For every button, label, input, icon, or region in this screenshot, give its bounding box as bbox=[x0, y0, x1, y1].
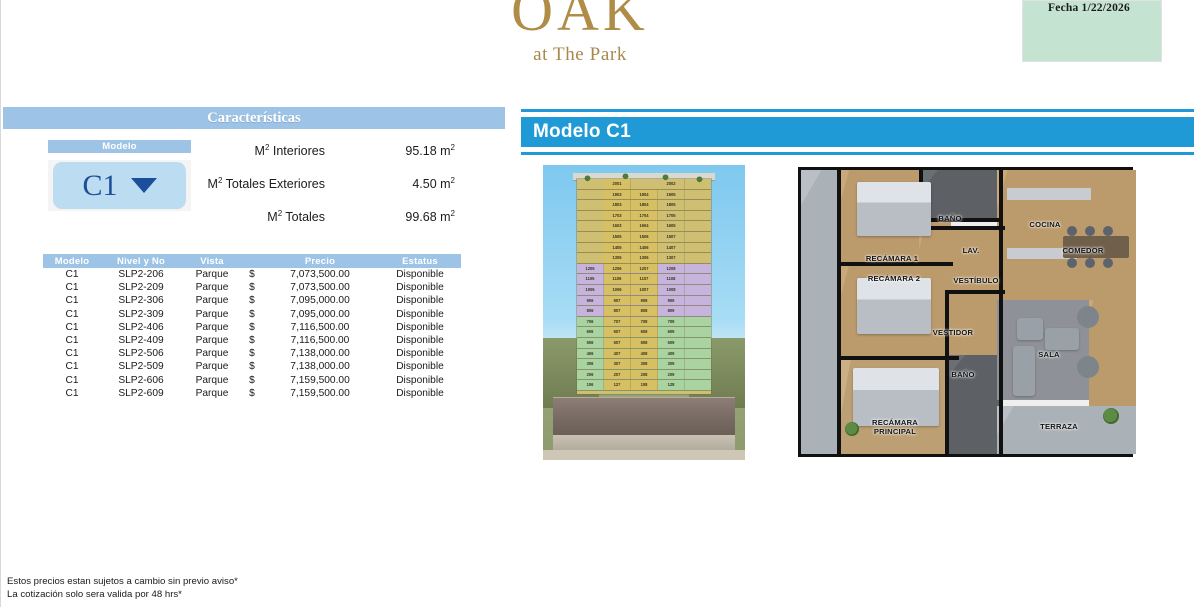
building-unit-cell: 509 bbox=[658, 338, 685, 348]
measure-row: M2 Interiores 95.18 m2 bbox=[205, 143, 455, 176]
building-unit-cell: 209 bbox=[658, 370, 685, 380]
fp-label-recamara-1: RECÁMARA 1 bbox=[837, 254, 947, 263]
building-unit-cell: 1306 bbox=[631, 253, 658, 263]
wall bbox=[837, 170, 841, 454]
unit-vista: Parque bbox=[181, 321, 243, 334]
fp-label-bano-1: BAÑO bbox=[927, 214, 973, 223]
building-unit-cell: 1107 bbox=[631, 274, 658, 284]
building-unit-cell: 1007 bbox=[631, 285, 658, 295]
units-table-body: C1SLP2-206Parque$7,073,500.00DisponibleC… bbox=[43, 268, 461, 400]
building-unit-cell: 1405 bbox=[604, 243, 631, 253]
table-row[interactable]: C1SLP2-409Parque$7,116,500.00Disponible bbox=[43, 334, 461, 347]
fp-label-terraza: TERRAZA bbox=[1029, 422, 1089, 431]
footer-line-1: Estos precios estan sujetos a cambio sin… bbox=[7, 575, 238, 588]
table-row[interactable]: C1SLP2-206Parque$7,073,500.00Disponible bbox=[43, 268, 461, 281]
caracteristicas-title: Características bbox=[3, 107, 505, 129]
unit-modelo: C1 bbox=[43, 374, 101, 387]
table-row[interactable]: C1SLP2-306Parque$7,095,000.00Disponible bbox=[43, 294, 461, 307]
building-unit-cell: 908 bbox=[631, 296, 658, 306]
unit-vista: Parque bbox=[181, 294, 243, 307]
unit-vista: Parque bbox=[181, 334, 243, 347]
building-unit-cell: 1805 bbox=[658, 200, 685, 210]
unit-precio: 7,138,000.00 bbox=[261, 360, 379, 373]
unit-modelo: C1 bbox=[43, 321, 101, 334]
unit-precio: 7,159,500.00 bbox=[261, 387, 379, 400]
unit-currency: $ bbox=[243, 334, 261, 347]
fp-label-sala: SALA bbox=[1027, 350, 1071, 359]
building-floor-row: 1205120612071208 bbox=[577, 264, 711, 275]
unit-precio: 7,116,500.00 bbox=[261, 321, 379, 334]
fp-floor-vestidor bbox=[919, 290, 1005, 360]
measure-name: M2 Totales bbox=[205, 209, 355, 224]
building-unit-cell: 1206 bbox=[604, 264, 631, 274]
unit-vista: Parque bbox=[181, 374, 243, 387]
armchair-icon bbox=[1017, 318, 1043, 340]
unit-nivel: SLP2-606 bbox=[101, 374, 181, 387]
building-unit-cell: 1205 bbox=[577, 264, 604, 274]
chair-icon bbox=[1067, 258, 1077, 268]
measure-row: M2 Totales 99.68 m2 bbox=[205, 209, 455, 242]
measure-row: M2 Totales Exteriores 4.50 m2 bbox=[205, 176, 455, 209]
model-header-bar: Modelo C1 bbox=[521, 117, 1194, 147]
unit-modelo: C1 bbox=[43, 308, 101, 321]
building-unit-cell: 806 bbox=[577, 306, 604, 316]
fp-label-cocina: COCINA bbox=[1019, 220, 1071, 229]
building-unit-cell: 106 bbox=[577, 380, 604, 390]
building-unit-cell: 1507 bbox=[658, 232, 685, 242]
plant-icon bbox=[1103, 408, 1119, 424]
building-unit-cell: 1406 bbox=[631, 243, 658, 253]
building-unit-cell: 2001 bbox=[604, 179, 631, 189]
palm-icon bbox=[621, 171, 630, 180]
building-unit-cell: 108 bbox=[631, 380, 658, 390]
building-unit-cell: 606 bbox=[577, 327, 604, 337]
palm-icon bbox=[695, 174, 704, 183]
building-unit-cell: 1106 bbox=[604, 274, 631, 284]
unit-currency: $ bbox=[243, 374, 261, 387]
unit-estatus: Disponible bbox=[379, 347, 461, 360]
building-unit-cell: 1905 bbox=[658, 190, 685, 200]
building-floor-row: 160316041605 bbox=[577, 221, 711, 232]
measure-value: 99.68 m2 bbox=[355, 209, 455, 224]
footer-line-2: La cotización solo sera valida por 48 hr… bbox=[7, 588, 238, 601]
palm-icon bbox=[583, 173, 592, 182]
brand-name: OAK bbox=[440, 0, 720, 40]
building-floor-row: 170317041705 bbox=[577, 211, 711, 222]
unit-nivel: SLP2-206 bbox=[101, 268, 181, 281]
building-unit-cell: 1506 bbox=[631, 232, 658, 242]
fp-label-comedor: COMEDOR bbox=[1053, 246, 1113, 255]
unit-precio: 7,073,500.00 bbox=[261, 281, 379, 294]
building-podium bbox=[553, 397, 735, 436]
unit-estatus: Disponible bbox=[379, 294, 461, 307]
unit-vista: Parque bbox=[181, 387, 243, 400]
building-unit-cell: 1705 bbox=[658, 211, 685, 221]
building-unit-cell: 608 bbox=[631, 327, 658, 337]
model-picker-label: Modelo bbox=[48, 140, 191, 153]
measure-name: M2 Interiores bbox=[205, 143, 355, 158]
model-select-wrapper: C1 bbox=[48, 160, 191, 211]
unit-vista: Parque bbox=[181, 347, 243, 360]
table-row[interactable]: C1SLP2-406Parque$7,116,500.00Disponible bbox=[43, 321, 461, 334]
building-unit-cell: 1505 bbox=[604, 232, 631, 242]
building-unit-cell: 1605 bbox=[658, 221, 685, 231]
building-unit-cell: 1105 bbox=[577, 274, 604, 284]
table-row[interactable]: C1SLP2-209Parque$7,073,500.00Disponible bbox=[43, 281, 461, 294]
wall bbox=[841, 356, 959, 360]
building-unit-cell: 709 bbox=[658, 317, 685, 327]
wall bbox=[919, 226, 1005, 230]
building-floor-row: 1005100610071008 bbox=[577, 285, 711, 296]
building-unit-cell: 409 bbox=[658, 349, 685, 359]
building-unit-cell: 308 bbox=[631, 359, 658, 369]
fp-label-recamara-principal: RECÁMARA PRINCIPAL bbox=[847, 418, 943, 436]
unit-currency: $ bbox=[243, 387, 261, 400]
building-floor-row: 150515061507 bbox=[577, 232, 711, 243]
unit-modelo: C1 bbox=[43, 334, 101, 347]
building-unit-cell: 206 bbox=[577, 370, 604, 380]
measures-list: M2 Interiores 95.18 m2 M2 Totales Exteri… bbox=[205, 143, 455, 242]
building-unit-cell: 1208 bbox=[658, 264, 685, 274]
building-unit-cell: 1006 bbox=[604, 285, 631, 295]
building-ground bbox=[543, 450, 745, 460]
chair-icon bbox=[1085, 258, 1095, 268]
page-left-border bbox=[0, 0, 1, 607]
unit-currency: $ bbox=[243, 360, 261, 373]
building-unit-cell: 707 bbox=[604, 317, 631, 327]
unit-precio: 7,095,000.00 bbox=[261, 294, 379, 307]
unit-modelo: C1 bbox=[43, 281, 101, 294]
building-unit-cell: 1903 bbox=[604, 190, 631, 200]
building-floor-row: 106127108128 bbox=[577, 380, 711, 391]
unit-nivel: SLP2-306 bbox=[101, 294, 181, 307]
table-row[interactable]: C1SLP2-506Parque$7,138,000.00Disponible bbox=[43, 347, 461, 360]
fp-label-lav: LAV. bbox=[955, 246, 987, 255]
building-unit-cell: 507 bbox=[604, 338, 631, 348]
building-unit-cell: 607 bbox=[604, 327, 631, 337]
bed-icon bbox=[857, 182, 931, 236]
unit-precio: 7,159,500.00 bbox=[261, 374, 379, 387]
building-unit-cell: 1005 bbox=[577, 285, 604, 295]
building-unit-cell: 309 bbox=[658, 359, 685, 369]
footer-disclaimer: Estos precios estan sujetos a cambio sin… bbox=[7, 575, 238, 601]
building-unit-cell: 506 bbox=[577, 338, 604, 348]
fp-label-vestibulo: VESTÍBULO bbox=[941, 276, 1011, 285]
building-unit-cell: 906 bbox=[577, 296, 604, 306]
building-unit-cell: 406 bbox=[577, 349, 604, 359]
col-header-modelo[interactable]: Modelo bbox=[43, 254, 101, 268]
building-unit-cell: 508 bbox=[631, 338, 658, 348]
building-unit-cell: 306 bbox=[577, 359, 604, 369]
table-row[interactable]: C1SLP2-606Parque$7,159,500.00Disponible bbox=[43, 374, 461, 387]
building-unit-cell: 1305 bbox=[604, 253, 631, 263]
chair-icon bbox=[1103, 226, 1113, 236]
chevron-down-icon[interactable] bbox=[131, 178, 157, 193]
building-unit-cell: 808 bbox=[631, 306, 658, 316]
building-floor-row: 406407408409 bbox=[577, 349, 711, 360]
units-table: Modelo Nivel y No Vista Precio Estatus C… bbox=[43, 254, 461, 400]
unit-estatus: Disponible bbox=[379, 360, 461, 373]
tower-floors: 2001200219031904190518031804180517031704… bbox=[577, 179, 711, 394]
unit-modelo: C1 bbox=[43, 360, 101, 373]
building-unit-cell: 1008 bbox=[658, 285, 685, 295]
model-select[interactable]: C1 bbox=[53, 162, 186, 209]
unit-estatus: Disponible bbox=[379, 321, 461, 334]
round-rug bbox=[1077, 306, 1099, 328]
date-label: Fecha 1/22/2026 bbox=[1024, 2, 1154, 14]
building-unit-cell: 307 bbox=[604, 359, 631, 369]
col-header-currency bbox=[243, 254, 261, 268]
building-unit-cell: 127 bbox=[604, 380, 631, 390]
unit-nivel: SLP2-406 bbox=[101, 321, 181, 334]
building-unit-cell: 128 bbox=[658, 380, 685, 390]
unit-currency: $ bbox=[243, 347, 261, 360]
building-floor-row: 606607608609 bbox=[577, 327, 711, 338]
unit-modelo: C1 bbox=[43, 294, 101, 307]
unit-vista: Parque bbox=[181, 360, 243, 373]
unit-modelo: C1 bbox=[43, 268, 101, 281]
building-unit-cell: 408 bbox=[631, 349, 658, 359]
unit-estatus: Disponible bbox=[379, 308, 461, 321]
unit-precio: 7,095,000.00 bbox=[261, 308, 379, 321]
unit-currency: $ bbox=[243, 268, 261, 281]
model-select-value: C1 bbox=[82, 171, 117, 201]
unit-estatus: Disponible bbox=[379, 387, 461, 400]
brand-logo: OAK at The Park bbox=[440, 0, 720, 66]
unit-nivel: SLP2-309 bbox=[101, 308, 181, 321]
table-row[interactable]: C1SLP2-609Parque$7,159,500.00Disponible bbox=[43, 387, 461, 400]
fp-balcony-left bbox=[801, 170, 841, 454]
building-unit-cell: 1803 bbox=[604, 200, 631, 210]
unit-nivel: SLP2-609 bbox=[101, 387, 181, 400]
caracteristicas-header: Características bbox=[3, 107, 505, 129]
fp-label-recamara-2: RECÁMARA 2 bbox=[839, 274, 949, 283]
unit-nivel: SLP2-506 bbox=[101, 347, 181, 360]
unit-currency: $ bbox=[243, 294, 261, 307]
unit-nivel: SLP2-409 bbox=[101, 334, 181, 347]
unit-estatus: Disponible bbox=[379, 374, 461, 387]
building-floor-row: 180318041805 bbox=[577, 200, 711, 211]
building-floor-row: 20012002 bbox=[577, 179, 711, 190]
building-floor-row: 140514061407 bbox=[577, 243, 711, 254]
building-floor-row: 306307308309 bbox=[577, 359, 711, 370]
wall bbox=[999, 294, 1003, 454]
bed-icon bbox=[857, 278, 931, 334]
model-picker: Modelo C1 bbox=[48, 140, 191, 211]
chair-icon bbox=[1085, 226, 1095, 236]
unit-vista: Parque bbox=[181, 281, 243, 294]
brand-tagline: at The Park bbox=[440, 44, 720, 66]
building-unit-cell: 1108 bbox=[658, 274, 685, 284]
table-row[interactable]: C1SLP2-309Parque$7,095,000.00Disponible bbox=[43, 308, 461, 321]
model-header-rule-bottom bbox=[521, 152, 1194, 155]
unit-currency: $ bbox=[243, 281, 261, 294]
building-floor-row: 1105110611071108 bbox=[577, 274, 711, 285]
building-unit-cell: 207 bbox=[604, 370, 631, 380]
building-unit-cell: 1307 bbox=[658, 253, 685, 263]
wall bbox=[945, 290, 1005, 294]
building-unit-cell: 1407 bbox=[658, 243, 685, 253]
unit-nivel: SLP2-209 bbox=[101, 281, 181, 294]
building-unit-cell: 1604 bbox=[631, 221, 658, 231]
building-unit-cell: 907 bbox=[604, 296, 631, 306]
building-floor-row: 506507508509 bbox=[577, 338, 711, 349]
measure-value: 4.50 m2 bbox=[355, 176, 455, 191]
unit-estatus: Disponible bbox=[379, 268, 461, 281]
building-unit-cell: 1904 bbox=[631, 190, 658, 200]
unit-precio: 7,073,500.00 bbox=[261, 268, 379, 281]
model-header-title: Modelo C1 bbox=[533, 121, 631, 143]
chair-icon bbox=[1103, 258, 1113, 268]
unit-precio: 7,116,500.00 bbox=[261, 334, 379, 347]
floorplan-render: RECÁMARA 1 RECÁMARA 2 RECÁMARA PRINCIPAL… bbox=[788, 163, 1145, 463]
unit-precio: 7,138,000.00 bbox=[261, 347, 379, 360]
building-unit-cell: 909 bbox=[658, 296, 685, 306]
units-table-head: Modelo Nivel y No Vista Precio Estatus bbox=[43, 254, 461, 268]
unit-currency: $ bbox=[243, 321, 261, 334]
table-header-row: Modelo Nivel y No Vista Precio Estatus bbox=[43, 254, 461, 268]
unit-nivel: SLP2-509 bbox=[101, 360, 181, 373]
building-unit-cell: 1703 bbox=[604, 211, 631, 221]
building-unit-cell: 708 bbox=[631, 317, 658, 327]
model-header-rule-top bbox=[521, 109, 1194, 112]
building-unit-cell: 208 bbox=[631, 370, 658, 380]
measure-name: M2 Totales Exteriores bbox=[205, 176, 355, 191]
palm-icon bbox=[661, 172, 670, 181]
building-floor-row: 706707708709 bbox=[577, 317, 711, 328]
coffee-table-icon bbox=[1045, 328, 1079, 350]
round-rug bbox=[1077, 356, 1099, 378]
building-unit-cell: 706 bbox=[577, 317, 604, 327]
kitchen-counter bbox=[1007, 188, 1091, 200]
building-unit-cell: 1603 bbox=[604, 221, 631, 231]
unit-estatus: Disponible bbox=[379, 281, 461, 294]
table-row[interactable]: C1SLP2-509Parque$7,138,000.00Disponible bbox=[43, 360, 461, 373]
building-unit-cell: 407 bbox=[604, 349, 631, 359]
building-floor-row: 906907908909 bbox=[577, 296, 711, 307]
building-render: 2001200219031904190518031804180517031704… bbox=[543, 165, 745, 460]
unit-estatus: Disponible bbox=[379, 334, 461, 347]
building-unit-cell: 1207 bbox=[631, 264, 658, 274]
building-unit-cell: 809 bbox=[658, 306, 685, 316]
unit-currency: $ bbox=[243, 308, 261, 321]
building-unit-cell: 1704 bbox=[631, 211, 658, 221]
col-header-precio[interactable]: Precio bbox=[261, 254, 379, 268]
measure-value: 95.18 m2 bbox=[355, 143, 455, 158]
building-unit-cell: 807 bbox=[604, 306, 631, 316]
unit-modelo: C1 bbox=[43, 387, 101, 400]
unit-vista: Parque bbox=[181, 308, 243, 321]
col-header-nivel[interactable]: Nivel y No bbox=[101, 254, 181, 268]
fp-label-bano-2: BAÑO bbox=[941, 370, 985, 379]
unit-modelo: C1 bbox=[43, 347, 101, 360]
building-unit-cell: 1804 bbox=[631, 200, 658, 210]
floorplan-outline: RECÁMARA 1 RECÁMARA 2 RECÁMARA PRINCIPAL… bbox=[798, 167, 1133, 457]
building-unit-cell: 609 bbox=[658, 327, 685, 337]
building-floor-row: 206207208209 bbox=[577, 370, 711, 381]
fp-label-vestidor: VESTIDOR bbox=[923, 328, 983, 337]
building-floor-row: 190319041905 bbox=[577, 190, 711, 201]
building-floor-row: 806807808809 bbox=[577, 306, 711, 317]
building-floor-row: 130513061307 bbox=[577, 253, 711, 264]
unit-vista: Parque bbox=[181, 268, 243, 281]
col-header-vista[interactable]: Vista bbox=[181, 254, 243, 268]
col-header-estatus[interactable]: Estatus bbox=[379, 254, 461, 268]
